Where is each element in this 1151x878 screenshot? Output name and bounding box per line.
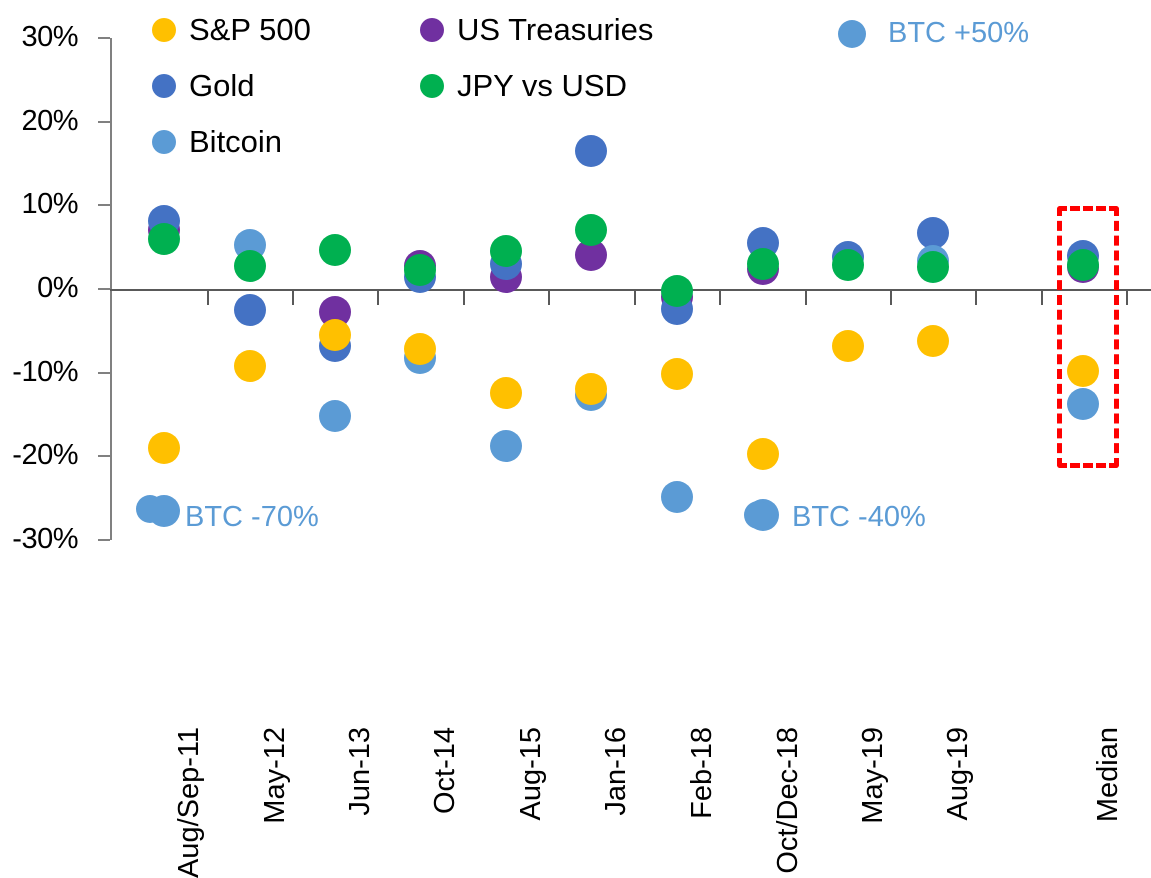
y-axis-tick-label: 30% — [21, 23, 78, 52]
x-axis-tick — [805, 291, 807, 305]
y-axis-tick-label: -30% — [12, 525, 78, 554]
x-axis-tick-label: May-12 — [261, 727, 290, 824]
data-point — [404, 333, 436, 365]
y-axis-tick — [98, 372, 110, 374]
y-axis-tick — [98, 37, 110, 39]
btc-minus-40-label: BTC -40% — [792, 503, 926, 532]
data-point — [319, 319, 351, 351]
x-axis-tick-label: May-19 — [859, 727, 888, 824]
y-axis-tick — [98, 204, 110, 206]
x-axis-tick-label: Oct/Dec-18 — [774, 727, 803, 874]
x-axis-tick — [1126, 291, 1128, 305]
legend-label: US Treasuries — [457, 14, 653, 45]
legend-item[interactable]: Bitcoin — [152, 126, 282, 157]
data-point — [661, 481, 693, 513]
y-axis: 30%20%10%0%-10%-20%-30% — [0, 0, 98, 739]
data-point — [917, 325, 949, 357]
btc-minus-70-marker — [136, 495, 164, 523]
data-point — [917, 217, 949, 249]
scatter-chart: 30%20%10%0%-10%-20%-30% S&P 500GoldBitco… — [0, 0, 1151, 739]
btc-plus-50-label: BTC +50% — [888, 19, 1029, 48]
data-point — [832, 249, 864, 281]
x-axis-tick-label: Aug-19 — [944, 727, 973, 821]
data-point — [148, 432, 180, 464]
data-point — [917, 251, 949, 283]
legend-label: Gold — [189, 70, 254, 101]
x-axis-tick — [377, 291, 379, 305]
x-axis-tick-label: Aug-15 — [517, 727, 546, 821]
x-axis-tick — [890, 291, 892, 305]
btc-minus-40-marker — [744, 501, 772, 529]
data-point — [234, 294, 266, 326]
y-axis-tick-label: 0% — [37, 274, 78, 303]
data-point — [234, 250, 266, 282]
legend-label: S&P 500 — [189, 14, 311, 45]
data-point — [148, 223, 180, 255]
data-point — [490, 430, 522, 462]
legend-swatch-icon — [152, 74, 176, 98]
zero-baseline — [110, 289, 1151, 291]
data-point — [404, 254, 436, 286]
btc-plus-50-marker — [838, 20, 866, 48]
x-axis-tick — [207, 291, 209, 305]
legend-item[interactable]: JPY vs USD — [420, 70, 627, 101]
x-axis-tick — [292, 291, 294, 305]
legend-swatch-icon — [152, 18, 176, 42]
x-axis-tick-label: Aug/Sep-11 — [175, 727, 204, 878]
x-axis-tick — [975, 291, 977, 305]
legend-item[interactable]: Gold — [152, 70, 254, 101]
x-axis-tick-label: Jun-13 — [346, 727, 375, 816]
legend-label: JPY vs USD — [457, 70, 627, 101]
x-axis-tick-label: Feb-18 — [688, 727, 717, 819]
data-point — [319, 400, 351, 432]
legend-swatch-icon — [420, 18, 444, 42]
y-axis-tick — [98, 121, 110, 123]
x-axis-tick-label: Median — [1094, 727, 1123, 822]
y-axis-tick-label: -10% — [12, 358, 78, 387]
data-point — [234, 350, 266, 382]
data-point — [661, 275, 693, 307]
legend-label: Bitcoin — [189, 126, 282, 157]
legend-item[interactable]: S&P 500 — [152, 14, 311, 45]
median-highlight-box — [1057, 206, 1119, 468]
btc-minus-70-label: BTC -70% — [185, 503, 319, 532]
legend: S&P 500GoldBitcoinUS TreasuriesJPY vs US… — [152, 14, 712, 174]
y-axis-tick-label: 20% — [21, 107, 78, 136]
y-axis-tick — [98, 539, 110, 541]
x-axis-tick — [634, 291, 636, 305]
x-axis-tick — [463, 291, 465, 305]
x-axis-tick — [1041, 291, 1043, 305]
x-axis-tick-label: Jan-16 — [602, 727, 631, 816]
data-point — [832, 330, 864, 362]
x-axis-tick — [719, 291, 721, 305]
data-point — [747, 438, 779, 470]
data-point — [747, 248, 779, 280]
y-axis-tick-label: 10% — [21, 190, 78, 219]
y-axis-tick — [98, 288, 110, 290]
legend-item[interactable]: US Treasuries — [420, 14, 653, 45]
data-point — [490, 377, 522, 409]
x-axis-tick — [548, 291, 550, 305]
legend-swatch-icon — [420, 74, 444, 98]
data-point — [575, 214, 607, 246]
legend-swatch-icon — [152, 130, 176, 154]
x-axis-tick-label: Oct-14 — [431, 727, 460, 814]
y-axis-tick — [98, 455, 110, 457]
data-point — [661, 358, 693, 390]
data-point — [319, 234, 351, 266]
y-axis-tick-label: -20% — [12, 441, 78, 470]
